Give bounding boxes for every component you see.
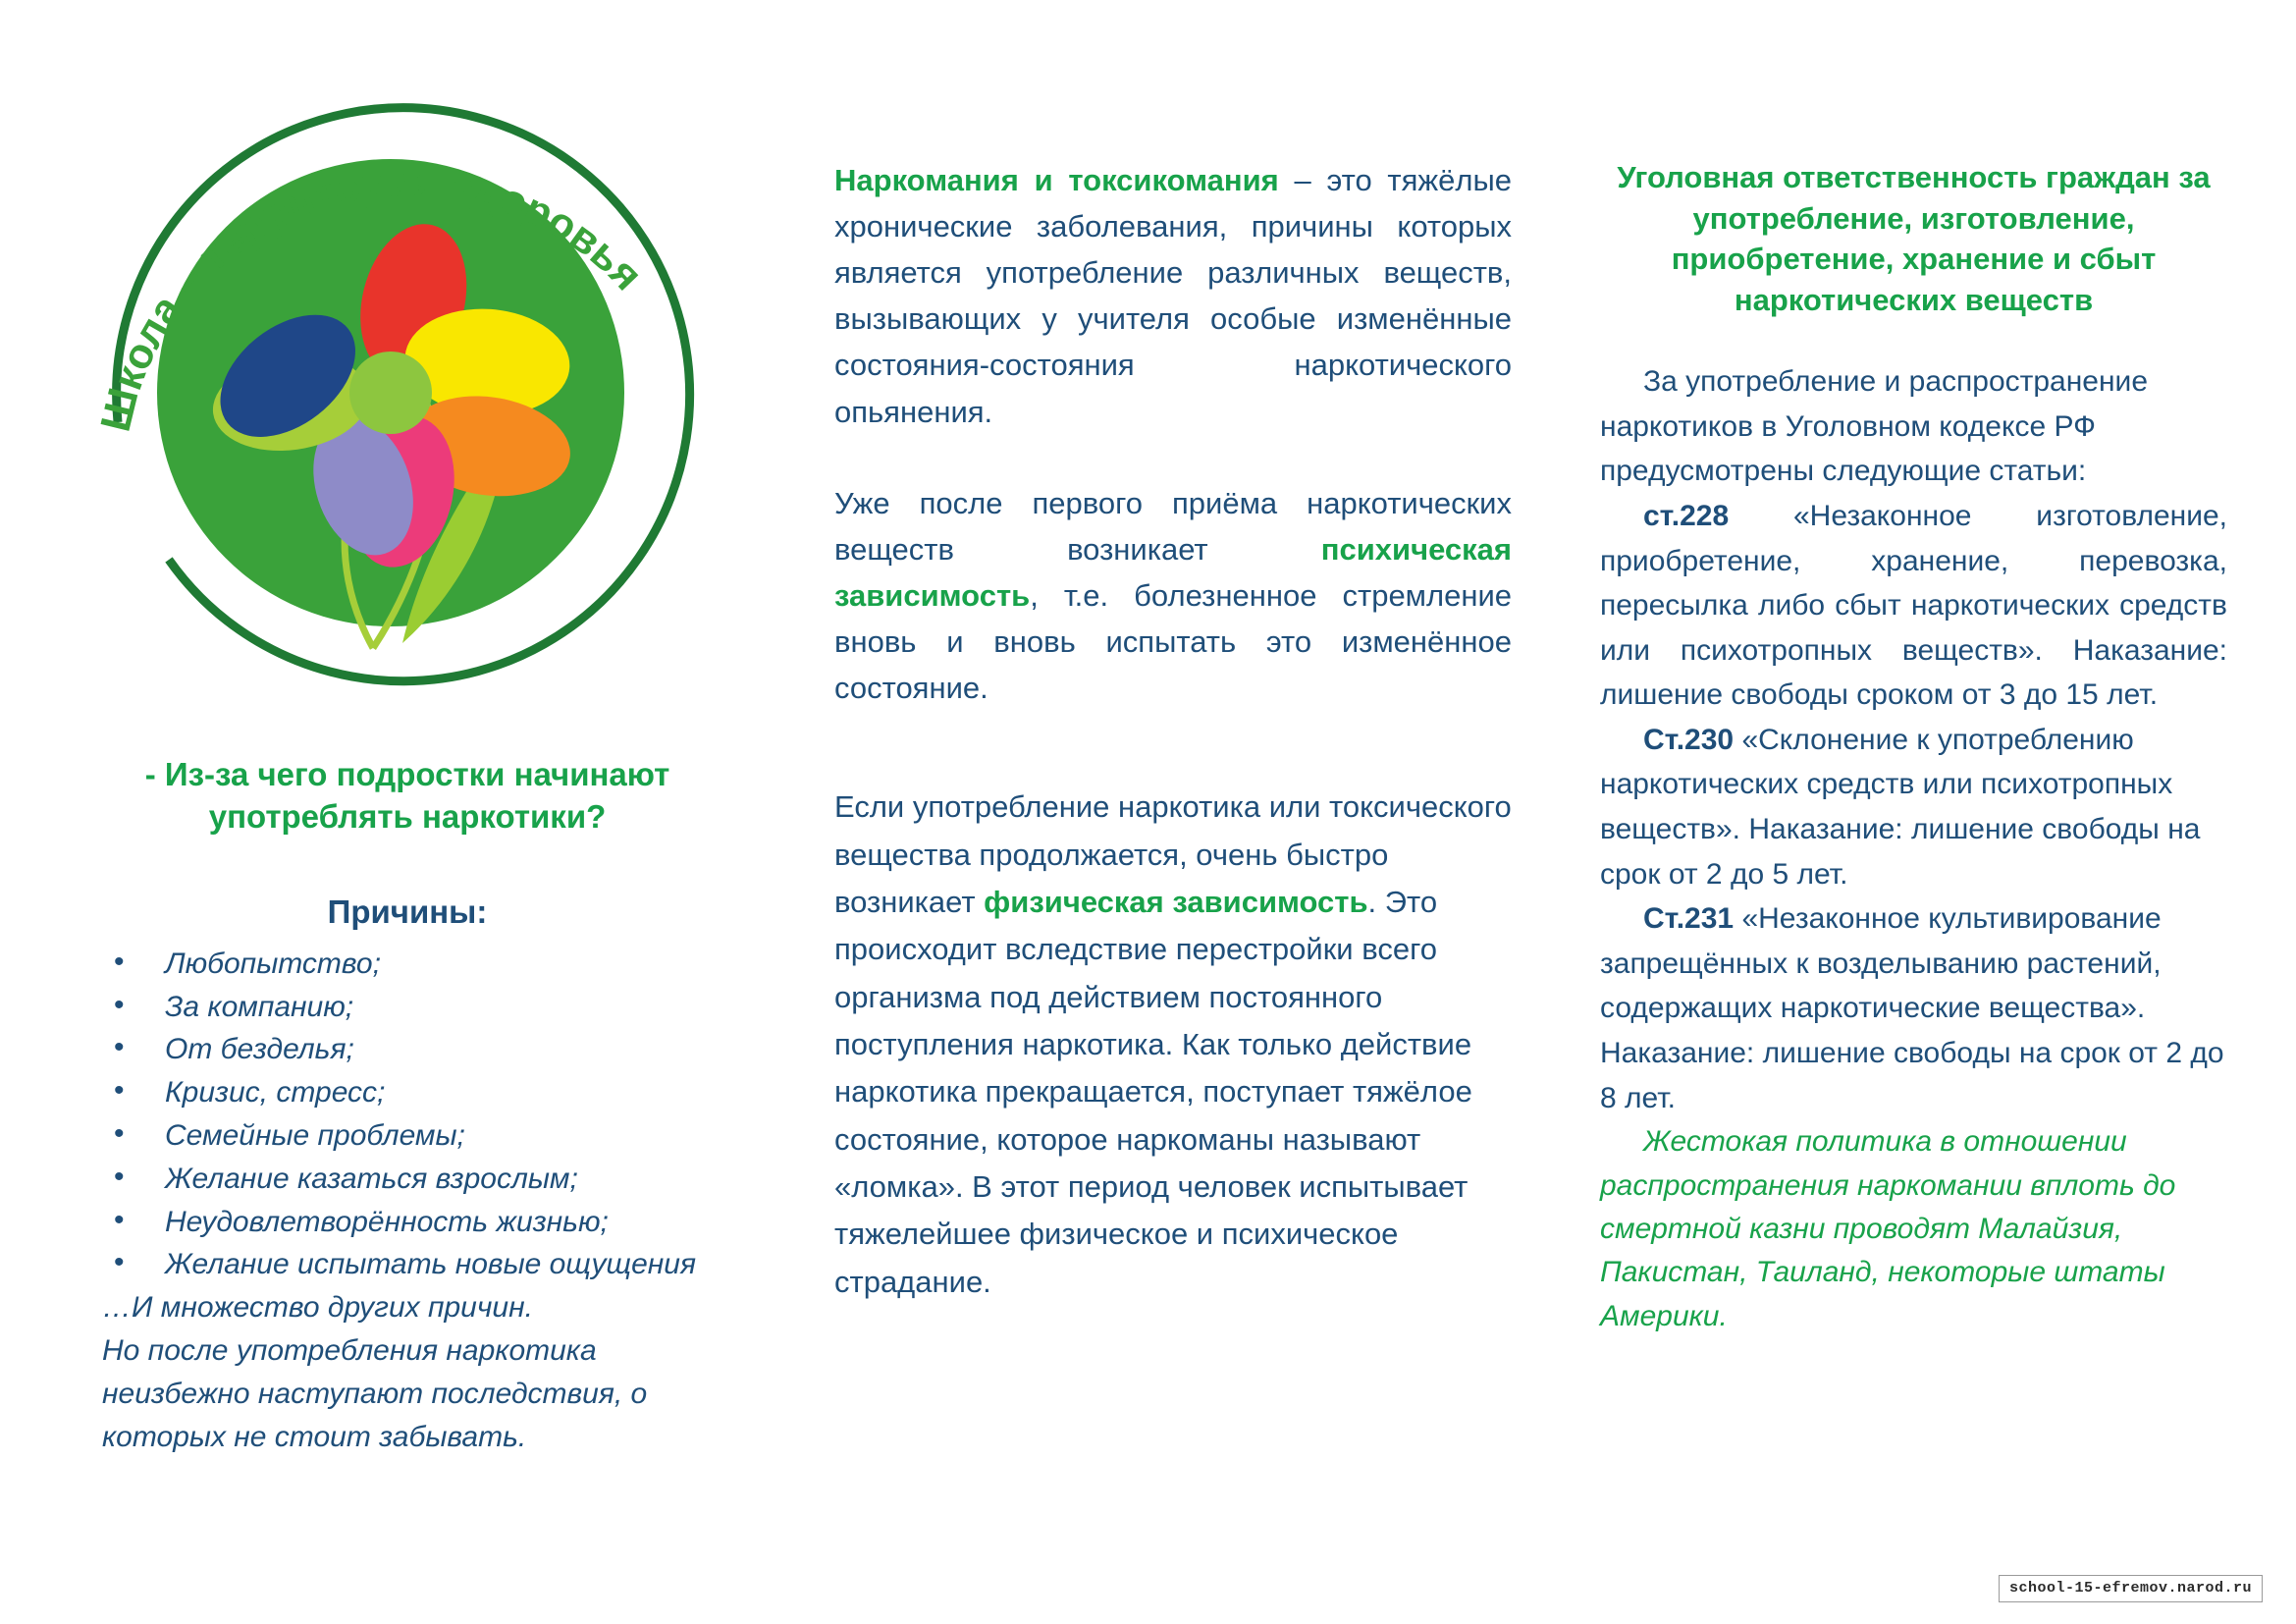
list-item: Желание казаться взрослым; bbox=[88, 1158, 736, 1201]
right-column: Уголовная ответственность граждан за упо… bbox=[1551, 0, 2296, 1338]
left-tail-block: …И множество других причин. Но после упо… bbox=[102, 1286, 736, 1458]
middle-paragraph-3: Если употребление наркотика или токсичес… bbox=[834, 784, 1512, 1306]
criminal-liability-intro: За употребление и распространение наркот… bbox=[1600, 359, 2227, 494]
physical-dependence-term: физическая зависимость bbox=[984, 885, 1367, 919]
list-item: От безделья; bbox=[88, 1028, 736, 1071]
brochure-page: Школа – территория здоровья - Из-за чего… bbox=[0, 0, 2296, 1624]
closing-note: Жестокая политика в отношении распростра… bbox=[1600, 1120, 2227, 1338]
source-watermark: school-15-efremov.narod.ru bbox=[1999, 1575, 2263, 1602]
left-tail-line-2: Но после употребления наркотика неизбежн… bbox=[102, 1334, 647, 1453]
list-item: Семейные проблемы; bbox=[88, 1114, 736, 1158]
logo-graphic: Школа – территория здоровья bbox=[79, 98, 707, 707]
left-heading: - Из-за чего подростки начинают употребл… bbox=[90, 754, 724, 839]
article-228: ст.228 «Незаконное изготовление, приобре… bbox=[1600, 494, 2227, 718]
middle-column: Наркомания и токсикомания – это тяжёлые … bbox=[775, 0, 1551, 1345]
middle-paragraph-2: Уже после первого приёма наркотических в… bbox=[834, 480, 1512, 712]
article-number: ст.228 bbox=[1643, 500, 1729, 532]
school-health-logo: Школа – территория здоровья bbox=[79, 98, 707, 707]
list-item: Любопытство; bbox=[88, 943, 736, 986]
article-number: Ст.231 bbox=[1643, 902, 1734, 935]
phys-dep-tail: . Это происходит вследствие перестройки … bbox=[834, 885, 1472, 1299]
left-column: Школа – территория здоровья - Из-за чего… bbox=[0, 0, 775, 1458]
article-231: Ст.231 «Незаконное культивирование запре… bbox=[1600, 896, 2227, 1120]
criminal-liability-title: Уголовная ответственность граждан за упо… bbox=[1600, 157, 2227, 320]
left-tail-line-1: …И множество других причин. bbox=[102, 1286, 736, 1329]
list-item: Желание испытать новые ощущения bbox=[88, 1243, 736, 1286]
list-item: За компанию; bbox=[88, 986, 736, 1029]
reasons-list: Любопытство; За компанию; От безделья; К… bbox=[88, 943, 736, 1286]
list-item: Кризис, стресс; bbox=[88, 1071, 736, 1114]
reasons-title: Причины: bbox=[79, 893, 736, 931]
definition-body: – это тяжёлые хронические заболевания, п… bbox=[834, 163, 1512, 429]
list-item: Неудовлетворённость жизнью; bbox=[88, 1201, 736, 1244]
definition-term: Наркомания и токсикомания bbox=[834, 163, 1279, 197]
middle-paragraph-1: Наркомания и токсикомания – это тяжёлые … bbox=[834, 157, 1512, 435]
article-number: Ст.230 bbox=[1643, 724, 1734, 756]
article-230: Ст.230 «Склонение к употреблению наркоти… bbox=[1600, 718, 2227, 896]
